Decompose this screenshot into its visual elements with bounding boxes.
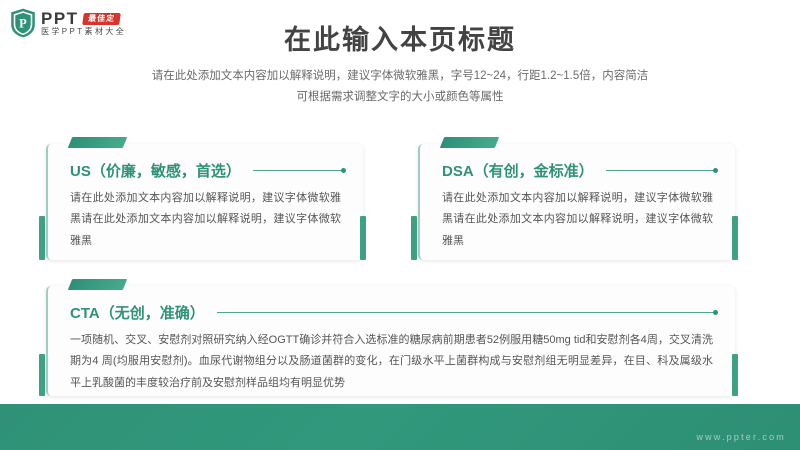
footer-watermark: www.ppter.com <box>696 432 786 442</box>
footer-band: www.ppter.com <box>0 404 800 450</box>
card-us-rule <box>253 170 345 171</box>
card-us[interactable]: US（价廉，敏感，首选） 请在此处添加文本内容加以解释说明，建议字体微软雅黑请在… <box>46 144 363 260</box>
page-title: 在此输入本页标题 <box>0 18 800 57</box>
card-dsa[interactable]: DSA（有创，金标准） 请在此处添加文本内容加以解释说明，建议字体微软雅黑请在此… <box>418 144 735 260</box>
card-dsa-header: DSA（有创，金标准） <box>420 144 735 181</box>
card-us-title: US（价廉，敏感，首选） <box>70 160 241 181</box>
card-tab-decoration <box>440 137 499 148</box>
card-cta-rule <box>217 312 717 313</box>
card-dsa-body: 请在此处添加文本内容加以解释说明，建议字体微软雅黑请在此处添加文本内容加以解释说… <box>420 181 735 266</box>
card-tab-decoration <box>68 279 127 290</box>
card-dsa-title: DSA（有创，金标准） <box>442 160 594 181</box>
card-cta-body: 一项随机、交叉、安慰剂对照研究纳入经OGTT确诊并符合入选标准的糖尿病前期患者5… <box>48 323 735 408</box>
card-cta[interactable]: CTA（无创，准确） 一项随机、交叉、安慰剂对照研究纳入经OGTT确诊并符合入选… <box>46 286 735 396</box>
card-cta-title: CTA（无创，准确） <box>70 302 205 323</box>
page-subtitle-line-1: 请在此处添加文本内容加以解释说明，建议字体微软雅黑，字号12~24，行距1.2~… <box>95 66 705 87</box>
page-subtitle: 请在此处添加文本内容加以解释说明，建议字体微软雅黑，字号12~24，行距1.2~… <box>95 66 705 109</box>
card-cta-header: CTA（无创，准确） <box>48 286 735 323</box>
card-us-body: 请在此处添加文本内容加以解释说明，建议字体微软雅黑请在此处添加文本内容加以解释说… <box>48 181 363 266</box>
page-subtitle-line-2: 可根据需求调整文字的大小或颜色等属性 <box>95 87 705 108</box>
card-dsa-rule <box>606 170 717 171</box>
card-us-header: US（价廉，敏感，首选） <box>48 144 363 181</box>
card-tab-decoration <box>68 137 127 148</box>
